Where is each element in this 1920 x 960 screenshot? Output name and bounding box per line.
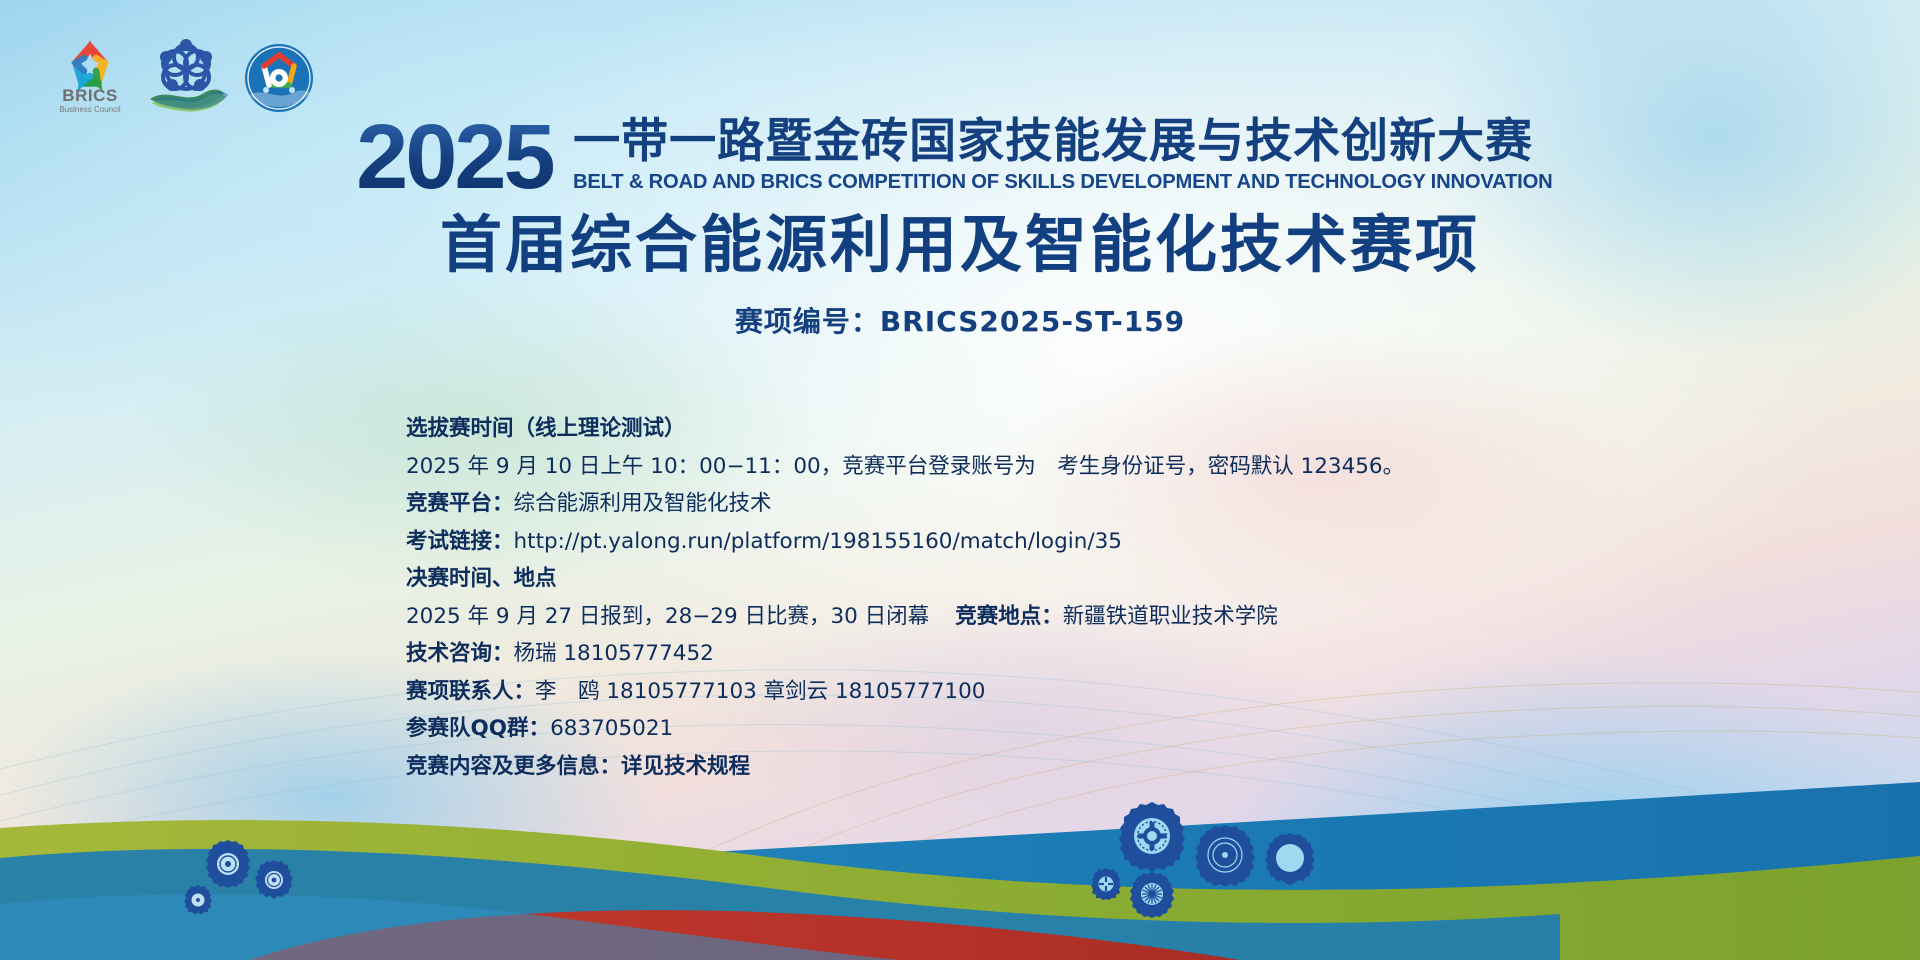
selection-detail-text: 2025 年 9 月 10 日上午 10：00−11：00，竞赛平台登录账号为 … bbox=[406, 454, 1404, 479]
belt-road-brics-competition-logo bbox=[142, 33, 230, 117]
competition-english-title: BELT & ROAD AND BRICS COMPETITION OF SKI… bbox=[573, 171, 1552, 194]
exam-link-label: 考试链接： bbox=[406, 529, 514, 554]
skills-competition-emblem-logo bbox=[244, 43, 314, 113]
exam-link-value[interactable]: http://pt.yalong.run/platform/198155160/… bbox=[514, 529, 1122, 554]
project-number: 赛项编号：BRICS2025-ST-159 bbox=[0, 300, 1920, 340]
gear-cluster-left bbox=[170, 828, 350, 938]
venue-value: 新疆铁道职业技术学院 bbox=[1063, 604, 1278, 629]
logo-row: BRICS Business Council bbox=[52, 33, 314, 117]
competition-chinese-title: 一带一路暨金砖国家技能发展与技术创新大赛 bbox=[573, 118, 1533, 166]
brics-logo-subtext: Business Council bbox=[59, 105, 121, 114]
platform-value: 综合能源利用及智能化技术 bbox=[514, 491, 772, 516]
final-heading: 决赛时间、地点 bbox=[406, 568, 1586, 590]
final-dates-line: 2025 年 9 月 27 日报到，28−29 日比赛，30 日闭幕竞赛地点：新… bbox=[406, 606, 1586, 628]
selection-heading: 选拔赛时间（线上理论测试） bbox=[406, 418, 1586, 440]
brics-logo-text: BRICS bbox=[62, 86, 117, 105]
banner-poster: BRICS Business Council bbox=[0, 0, 1920, 960]
platform-line: 竞赛平台：综合能源利用及智能化技术 bbox=[406, 493, 1586, 515]
year-2025: 2025 bbox=[357, 120, 554, 195]
title-block: 2025 一带一路暨金砖国家技能发展与技术创新大赛 BELT & ROAD AN… bbox=[0, 118, 1920, 340]
gear-cluster-right bbox=[1080, 792, 1340, 932]
page-title: 首届综合能源利用及智能化技术赛项 bbox=[0, 211, 1920, 279]
platform-label: 竞赛平台： bbox=[406, 491, 514, 516]
brics-business-council-logo: BRICS Business Council bbox=[52, 39, 128, 117]
final-dates-value: 2025 年 9 月 27 日报到，28−29 日比赛，30 日闭幕 bbox=[406, 604, 929, 629]
venue-label: 竞赛地点： bbox=[955, 604, 1063, 629]
title-top-row: 2025 一带一路暨金砖国家技能发展与技术创新大赛 BELT & ROAD AN… bbox=[0, 118, 1920, 195]
title-text-column: 一带一路暨金砖国家技能发展与技术创新大赛 BELT & ROAD AND BRI… bbox=[573, 118, 1567, 195]
final-heading-label: 决赛时间、地点 bbox=[406, 566, 557, 591]
exam-link-line: 考试链接：http://pt.yalong.run/platform/19815… bbox=[406, 531, 1586, 553]
selection-heading-label: 选拔赛时间（线上理论测试） bbox=[406, 416, 686, 441]
selection-detail: 2025 年 9 月 10 日上午 10：00−11：00，竞赛平台登录账号为 … bbox=[406, 456, 1586, 478]
